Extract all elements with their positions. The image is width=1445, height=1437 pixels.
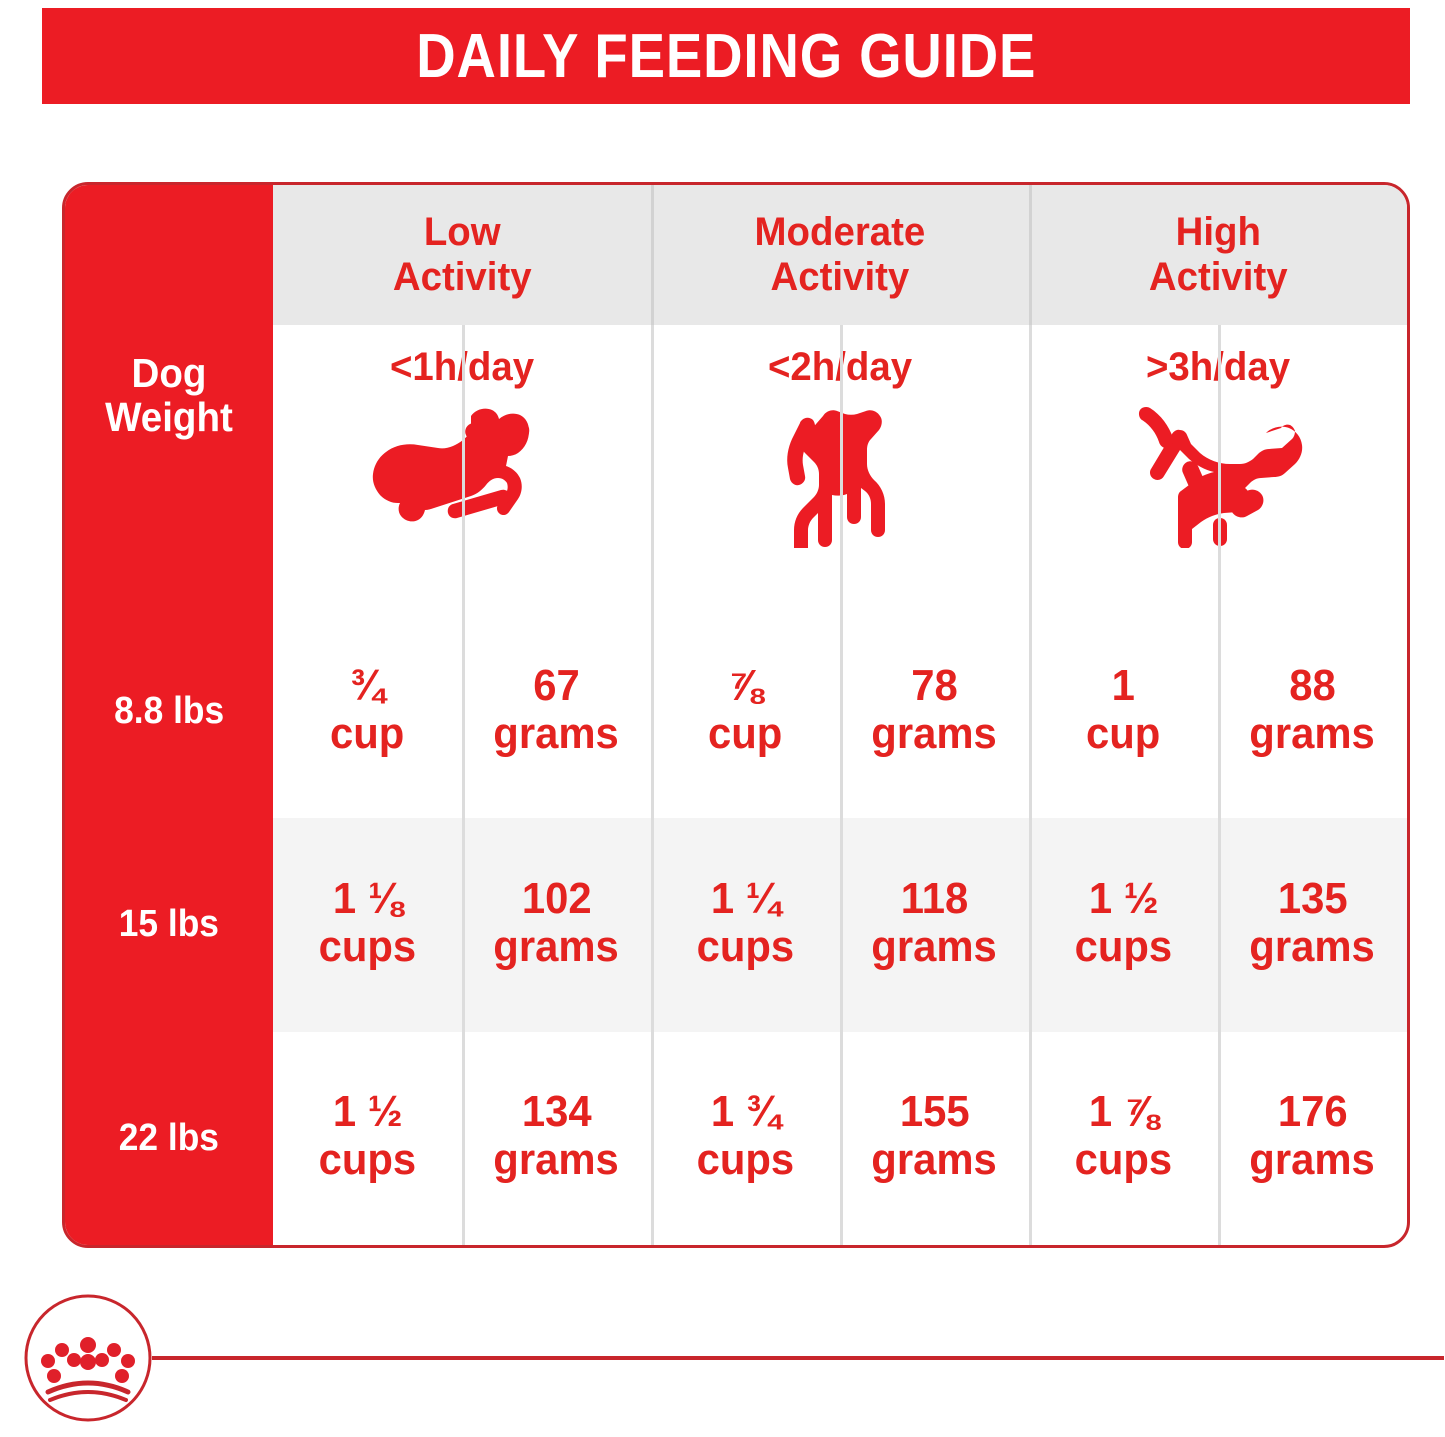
amount-unit: grams	[1250, 921, 1375, 973]
amount-value: 1 ¼	[711, 877, 781, 921]
dog-weight-header-label: Dog Weight	[105, 351, 233, 440]
amount-value: 1 ⅛	[333, 877, 403, 921]
activity-header-high: High Activity	[1029, 185, 1407, 325]
cell-high-cups: 1 cup	[1029, 605, 1218, 818]
amount-unit: cup	[330, 708, 404, 760]
amount-value: 135	[1278, 877, 1348, 921]
weight-label: 8.8 lbs	[114, 690, 224, 733]
dog-weight-column: Dog Weight 8.8 lbs 15 lbs 22 lbs	[65, 185, 273, 1245]
amount-unit: cups	[319, 921, 417, 973]
royal-canin-crown-logo	[22, 1292, 154, 1424]
cell-moderate-cups: ⅞ cup	[651, 605, 840, 818]
cell-low-grams: 67 grams	[462, 605, 651, 818]
weight-label: 22 lbs	[119, 1117, 219, 1160]
cell-moderate-grams: 118 grams	[840, 818, 1029, 1031]
amount-value: 1 ½	[1089, 877, 1159, 921]
amount-value: 67	[533, 664, 580, 708]
activity-header-moderate-label: Moderate Activity	[755, 210, 926, 300]
amount-unit: grams	[494, 921, 619, 973]
activity-cell-low: <1h/day	[273, 325, 651, 605]
amount-value: 102	[522, 877, 592, 921]
footer-logo-row	[22, 1292, 1422, 1432]
cell-moderate-cups: 1 ¾ cups	[651, 1032, 840, 1245]
amount-unit: grams	[1250, 708, 1375, 760]
page-title: DAILY FEEDING GUIDE	[416, 21, 1036, 92]
activity-duration-high: >3h/day	[1146, 345, 1290, 390]
activity-name-line1: Low	[424, 210, 501, 254]
activity-name-line2: Activity	[1149, 255, 1288, 299]
amount-unit: cups	[1075, 1134, 1173, 1186]
activity-header-high-label: High Activity	[1149, 210, 1288, 300]
amount-unit: cups	[319, 1134, 417, 1186]
cell-low-cups: 1 ⅛ cups	[273, 818, 462, 1031]
activity-duration-low: <1h/day	[390, 345, 534, 390]
measurement-rows: ¾ cup 67 grams ⅞ cup 78 grams	[273, 605, 1407, 1245]
footer-rule	[152, 1356, 1444, 1360]
activity-header-low-label: Low Activity	[393, 210, 532, 300]
amount-value: ⅞	[728, 664, 763, 708]
activity-header-low: Low Activity	[273, 185, 651, 325]
activity-cell-moderate: <2h/day	[651, 325, 1029, 605]
dog-running-icon	[1123, 398, 1313, 548]
amount-unit: cup	[1086, 708, 1160, 760]
amount-value: 88	[1289, 664, 1336, 708]
table-row-weight: 22 lbs	[65, 1032, 273, 1245]
dog-weight-header-line2: Weight	[105, 394, 233, 440]
cell-high-cups: 1 ⅞ cups	[1029, 1032, 1218, 1245]
cell-high-grams: 88 grams	[1218, 605, 1407, 818]
cell-high-cups: 1 ½ cups	[1029, 818, 1218, 1031]
activity-header-row: Low Activity Moderate Activity High Acti…	[273, 185, 1407, 325]
cell-low-grams: 134 grams	[462, 1032, 651, 1245]
cell-high-grams: 135 grams	[1218, 818, 1407, 1031]
table-row: 1 ½ cups 134 grams 1 ¾ cups 155 grams	[273, 1032, 1407, 1245]
table-row-weight: 8.8 lbs	[65, 605, 273, 818]
cell-moderate-cups: 1 ¼ cups	[651, 818, 840, 1031]
amount-unit: grams	[872, 1134, 997, 1186]
cell-low-grams: 102 grams	[462, 818, 651, 1031]
amount-unit: grams	[1250, 1134, 1375, 1186]
table-row-weight: 15 lbs	[65, 818, 273, 1031]
amount-unit: grams	[494, 708, 619, 760]
amount-value: 1 ½	[333, 1090, 403, 1134]
amount-value: 1 ⅞	[1089, 1090, 1159, 1134]
amount-value: 118	[901, 877, 968, 921]
dog-weight-column-header: Dog Weight	[65, 185, 273, 605]
activity-data-area: Low Activity Moderate Activity High Acti…	[273, 185, 1407, 1245]
activity-name-line2: Activity	[771, 255, 910, 299]
amount-unit: cup	[708, 708, 782, 760]
dog-weight-header-line1: Dog	[132, 350, 207, 396]
page-title-banner: DAILY FEEDING GUIDE	[42, 8, 1410, 104]
amount-unit: grams	[872, 708, 997, 760]
cell-moderate-grams: 155 grams	[840, 1032, 1029, 1245]
amount-value: 134	[522, 1090, 592, 1134]
activity-header-moderate: Moderate Activity	[651, 185, 1029, 325]
amount-value: ¾	[350, 664, 385, 708]
table-row: ¾ cup 67 grams ⅞ cup 78 grams	[273, 605, 1407, 818]
activity-duration-moderate: <2h/day	[768, 345, 912, 390]
amount-value: 1 ¾	[711, 1090, 781, 1134]
amount-unit: cups	[697, 921, 795, 973]
table-row: 1 ⅛ cups 102 grams 1 ¼ cups 118 grams	[273, 818, 1407, 1031]
activity-name-line1: High	[1175, 210, 1260, 254]
dog-standing-icon	[745, 398, 935, 548]
dog-lying-icon	[367, 398, 557, 548]
amount-unit: cups	[697, 1134, 795, 1186]
amount-value: 78	[911, 664, 958, 708]
cell-moderate-grams: 78 grams	[840, 605, 1029, 818]
amount-unit: grams	[494, 1134, 619, 1186]
cell-high-grams: 176 grams	[1218, 1032, 1407, 1245]
activity-name-line2: Activity	[393, 255, 532, 299]
amount-unit: cups	[1075, 921, 1173, 973]
amount-value: 176	[1278, 1090, 1348, 1134]
cell-low-cups: ¾ cup	[273, 605, 462, 818]
amount-unit: grams	[872, 921, 997, 973]
amount-value: 1	[1112, 664, 1135, 708]
activity-name-line1: Moderate	[755, 210, 926, 254]
amount-value: 155	[900, 1090, 970, 1134]
cell-low-cups: 1 ½ cups	[273, 1032, 462, 1245]
weight-label: 15 lbs	[119, 903, 219, 946]
activity-icon-row: <1h/day <2h/day	[273, 325, 1407, 605]
feeding-guide-table: Dog Weight 8.8 lbs 15 lbs 22 lbs Low	[62, 182, 1410, 1248]
activity-cell-high: >3h/day	[1029, 325, 1407, 605]
